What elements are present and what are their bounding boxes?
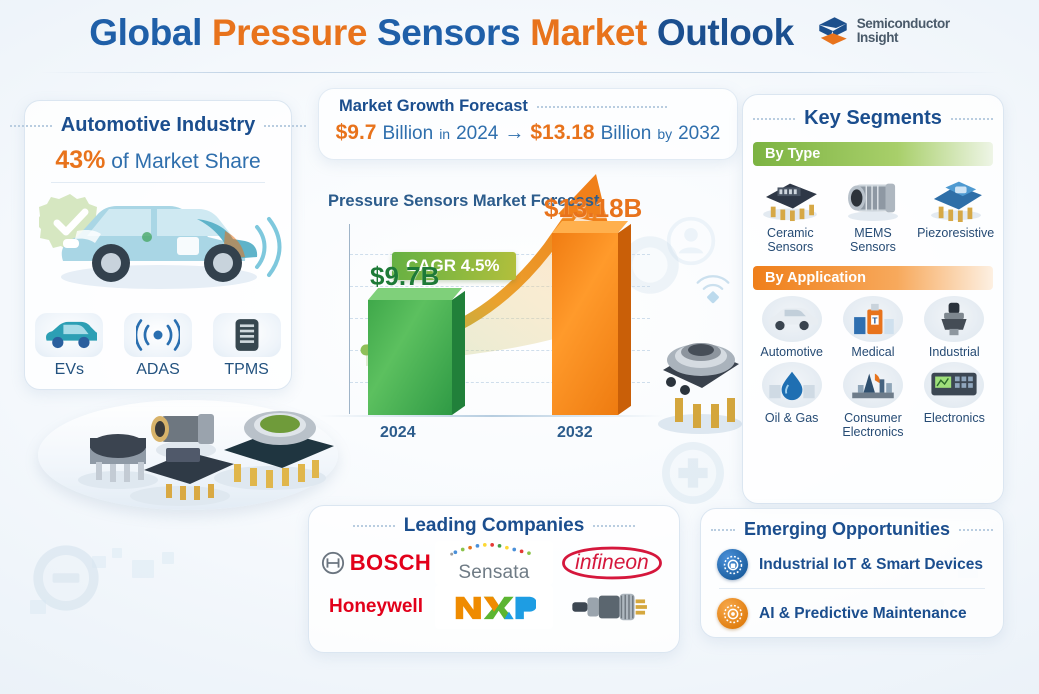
- oil-rig-icon: [843, 362, 903, 408]
- emerging-divider: [719, 588, 985, 589]
- company-logo-grid: BOSCH Sensata: [309, 537, 679, 629]
- application-consumer-electronics[interactable]: Consumer Electronics: [832, 362, 913, 439]
- growth-to-unit: Billion: [601, 123, 652, 145]
- growth-forecast-title: Market Growth Forecast: [319, 97, 737, 116]
- logo-line-1: Semiconductor: [857, 17, 950, 31]
- svg-text:T: T: [872, 316, 878, 326]
- radar-waves-icon: [124, 313, 192, 357]
- title-dash-left: [753, 118, 795, 120]
- bosch-logo-icon: [321, 551, 345, 575]
- car-icon: [762, 296, 822, 342]
- gear-watermark-person: [660, 210, 722, 272]
- page-title: Global Pressure Sensors Market Outlook S…: [89, 14, 950, 51]
- application-industrial[interactable]: Industrial: [914, 296, 995, 359]
- wifi-watermark: [690, 265, 736, 305]
- application-electronics[interactable]: Electronics: [914, 362, 995, 439]
- application-label: Medical: [832, 345, 913, 359]
- bar-2032-value-label: $13.18B: [544, 193, 642, 224]
- company-infineon[interactable]: infineon: [553, 541, 671, 585]
- pressure-sensor-photo-icon: [566, 590, 658, 624]
- x-axis-tick-2032: 2032: [557, 424, 593, 442]
- key-segments-title: Key Segments: [743, 107, 1003, 130]
- decor-square: [92, 556, 106, 568]
- company-sensata[interactable]: Sensata: [435, 541, 553, 585]
- title-dash-right: [264, 125, 306, 127]
- company-sensor-photo: [553, 585, 671, 629]
- emerging-title-text: Emerging Opportunities: [744, 519, 950, 540]
- application-medical[interactable]: T Medical: [832, 296, 913, 359]
- electric-car-illustration: [47, 189, 283, 293]
- growth-from-prefix: in: [439, 126, 450, 142]
- sensata-logo-icon: [448, 542, 540, 562]
- leading-companies-title-text: Leading Companies: [404, 515, 585, 537]
- by-application-grid: Automotive T Medical: [743, 296, 1003, 442]
- title-word-4: Market: [530, 12, 647, 53]
- market-share-label: of Market Share: [111, 150, 260, 173]
- chart-y-axis: [349, 224, 350, 414]
- title-dash-left: [353, 525, 395, 527]
- key-segments-title-text: Key Segments: [804, 107, 942, 130]
- application-automotive[interactable]: Automotive: [751, 296, 832, 359]
- ev-car-icon: [35, 313, 103, 357]
- sensata-label: Sensata: [458, 562, 529, 584]
- growth-to-amount: $13.18: [530, 121, 594, 145]
- by-type-band: By Type: [753, 142, 993, 166]
- application-label: Automotive: [751, 345, 832, 359]
- application-label: Electronics: [914, 411, 995, 425]
- title-dash-right: [537, 106, 667, 108]
- honeywell-label: Honeywell: [329, 596, 423, 618]
- oil-drop-icon: [762, 362, 822, 408]
- application-label: Industrial: [914, 345, 995, 359]
- chart-baseline: [320, 415, 664, 417]
- segment-mems-sensors[interactable]: MEMS Sensors: [834, 173, 912, 254]
- header-divider: [40, 72, 1000, 73]
- bar-2024-value-label: $9.7B: [370, 261, 439, 292]
- title-word-5: Outlook: [657, 12, 794, 53]
- segment-ceramic-sensors[interactable]: Ceramic Sensors: [751, 173, 829, 254]
- title-word-2: Pressure: [212, 12, 367, 53]
- icon-label-evs: EVs: [32, 361, 106, 379]
- decor-square: [162, 552, 174, 564]
- medical-bottle-icon: T: [843, 296, 903, 342]
- leading-companies-panel: Leading Companies BOSCH: [308, 505, 680, 653]
- icon-label-tpms: TPMS: [210, 361, 284, 379]
- emerging-label-iot: Industrial IoT & Smart Devices: [759, 556, 983, 574]
- application-label: Oil & Gas: [751, 411, 832, 425]
- decor-square: [132, 560, 154, 578]
- title-dash-right: [593, 525, 635, 527]
- application-label: Consumer Electronics: [832, 411, 913, 439]
- tire-sensor-icon: [213, 313, 281, 357]
- bar-2032: [552, 233, 618, 415]
- market-share-value: 43%: [55, 146, 105, 174]
- bar-2032-face: [552, 233, 618, 415]
- growth-forecast-values: $9.7 Billion in 2024 → $13.18 Billion by…: [319, 121, 737, 145]
- automotive-industry-panel: Automotive Industry 43% of Market Share: [24, 100, 292, 390]
- industrial-valve-icon: [924, 296, 984, 342]
- gear-lock-icon: [717, 549, 748, 580]
- bar-2024: [368, 300, 452, 415]
- automotive-icon-row: EVs ADAS: [25, 313, 291, 379]
- title-dash-right: [959, 529, 993, 531]
- title-word-3: Sensors: [377, 12, 520, 53]
- emerging-opportunities-title: Emerging Opportunities: [701, 519, 1003, 540]
- emerging-item-ai[interactable]: AI & Predictive Maintenance: [701, 598, 1003, 629]
- bosch-label: BOSCH: [350, 550, 431, 576]
- automotive-title-text: Automotive Industry: [61, 114, 255, 137]
- decor-square: [30, 600, 46, 614]
- market-forecast-chart: Pressure Sensors Market Forecast CAGR 4.…: [312, 176, 668, 462]
- key-segments-panel: Key Segments By Type Ceramic Sensors: [742, 94, 1004, 504]
- title-dash-left: [10, 125, 52, 127]
- company-nxp[interactable]: [435, 585, 553, 629]
- ceramic-sensor-icon: [755, 173, 825, 223]
- title-dash-right: [951, 118, 993, 120]
- company-honeywell[interactable]: Honeywell: [317, 585, 435, 629]
- semiconductor-insight-logo-icon: [816, 15, 850, 47]
- market-growth-forecast-panel: Market Growth Forecast $9.7 Billion in 2…: [318, 88, 738, 160]
- gear-ai-icon: [717, 598, 748, 629]
- growth-from-amount: $9.7: [336, 121, 377, 145]
- growth-from-unit: Billion: [382, 123, 433, 145]
- page-header: Global Pressure Sensors Market Outlook S…: [0, 14, 1039, 51]
- infineon-label: infineon: [575, 551, 649, 575]
- market-share-stat: 43% of Market Share: [25, 146, 291, 175]
- by-application-band: By Application: [753, 266, 993, 290]
- leading-companies-title: Leading Companies: [309, 515, 679, 537]
- growth-to-year: 2032: [678, 123, 720, 145]
- logo-line-2: Insight: [857, 31, 950, 45]
- automotive-icon-adas[interactable]: ADAS: [121, 313, 195, 379]
- growth-from-year: 2024: [456, 123, 498, 145]
- arrow-right-icon: →: [504, 123, 524, 143]
- automotive-hero-area: [25, 185, 291, 300]
- segment-label: Piezoresistive: [917, 226, 995, 240]
- emerging-item-iot[interactable]: Industrial IoT & Smart Devices: [701, 549, 1003, 580]
- title-word-1: Global: [89, 12, 202, 53]
- title-dash-left: [711, 529, 735, 531]
- piezoresistive-sensor-icon: [921, 173, 991, 223]
- x-axis-tick-2024: 2024: [380, 424, 416, 442]
- automotive-icon-tpms[interactable]: TPMS: [210, 313, 284, 379]
- icon-label-adas: ADAS: [121, 361, 195, 379]
- automotive-panel-title: Automotive Industry: [25, 114, 291, 137]
- segment-piezoresistive[interactable]: Piezoresistive: [917, 173, 995, 254]
- electronics-device-icon: [924, 362, 984, 408]
- sensor-group-illustration: [48, 398, 338, 508]
- bar-2024-face: [368, 300, 452, 415]
- brand-logo: Semiconductor Insight: [816, 15, 950, 47]
- chart-plot-area: Pressure Sensors Market Forecast CAGR 4.…: [312, 176, 668, 462]
- bar-2024-side: [452, 291, 465, 415]
- growth-to-prefix: by: [657, 126, 672, 142]
- company-bosch[interactable]: BOSCH: [317, 541, 435, 585]
- segment-label: Ceramic Sensors: [751, 226, 829, 254]
- bar-2032-side: [618, 224, 631, 415]
- automotive-icon-evs[interactable]: EVs: [32, 313, 106, 379]
- growth-title-text: Market Growth Forecast: [339, 97, 528, 116]
- emerging-opportunities-panel: Emerging Opportunities Industrial IoT & …: [700, 508, 1004, 638]
- infographic-root: Global Pressure Sensors Market Outlook S…: [0, 0, 1039, 694]
- segment-label: MEMS Sensors: [834, 226, 912, 254]
- by-type-grid: Ceramic Sensors MEMS Sensors: [743, 173, 1003, 254]
- decor-square: [112, 548, 122, 558]
- nxp-logo-icon: [452, 591, 536, 623]
- automotive-divider: [51, 182, 265, 183]
- application-oil-gas[interactable]: Oil & Gas: [751, 362, 832, 439]
- mems-sensor-icon: [838, 173, 908, 223]
- emerging-label-ai: AI & Predictive Maintenance: [759, 605, 967, 623]
